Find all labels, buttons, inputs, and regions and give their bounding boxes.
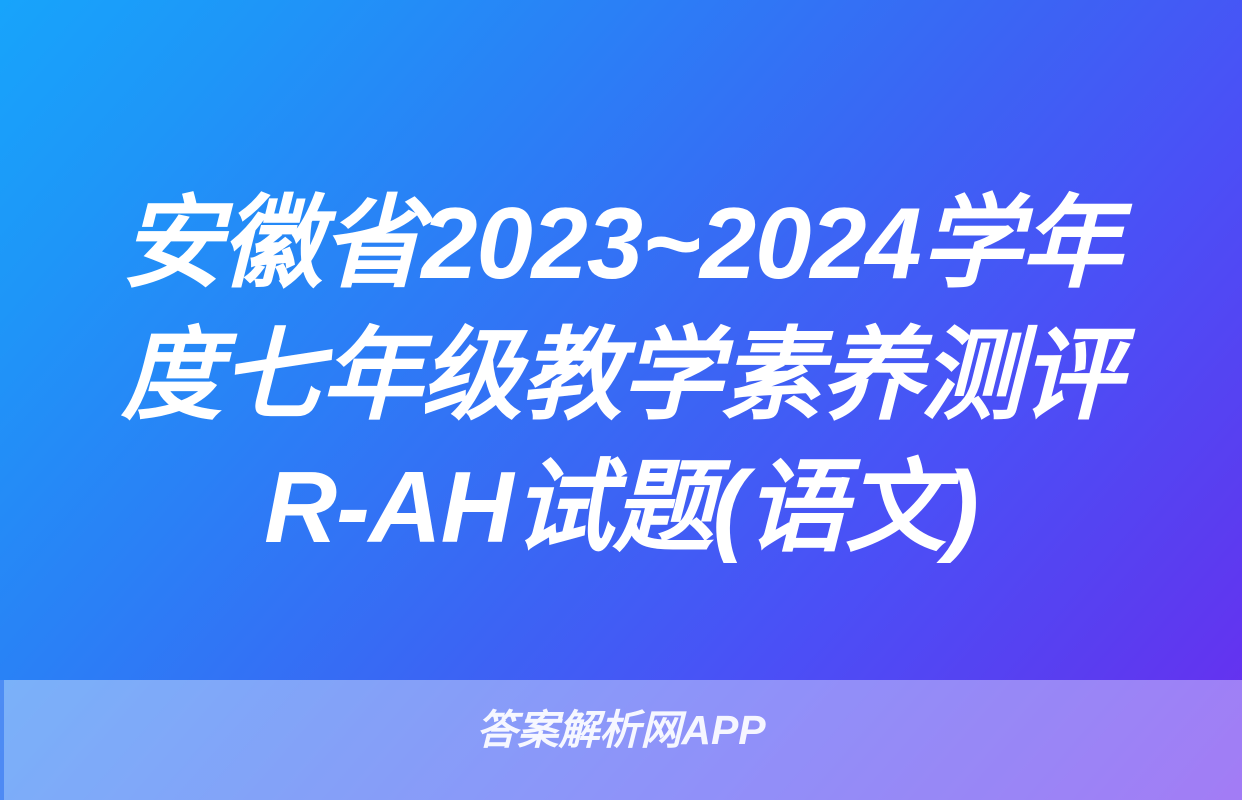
poster-canvas: 安徽省2023~2024学年 度七年级教学素养测评 R-AH试题(语文) 答案解… xyxy=(0,0,1242,800)
title-line-3: R-AH试题(语文) xyxy=(86,442,1156,574)
watermark-text: 答案解析网APP xyxy=(476,706,765,754)
title-line-1: 安徽省2023~2024学年 xyxy=(86,178,1156,310)
watermark: 答案解析网APP xyxy=(0,706,1242,754)
page-title: 安徽省2023~2024学年 度七年级教学素养测评 R-AH试题(语文) xyxy=(0,178,1242,574)
title-line-2: 度七年级教学素养测评 xyxy=(86,310,1156,442)
